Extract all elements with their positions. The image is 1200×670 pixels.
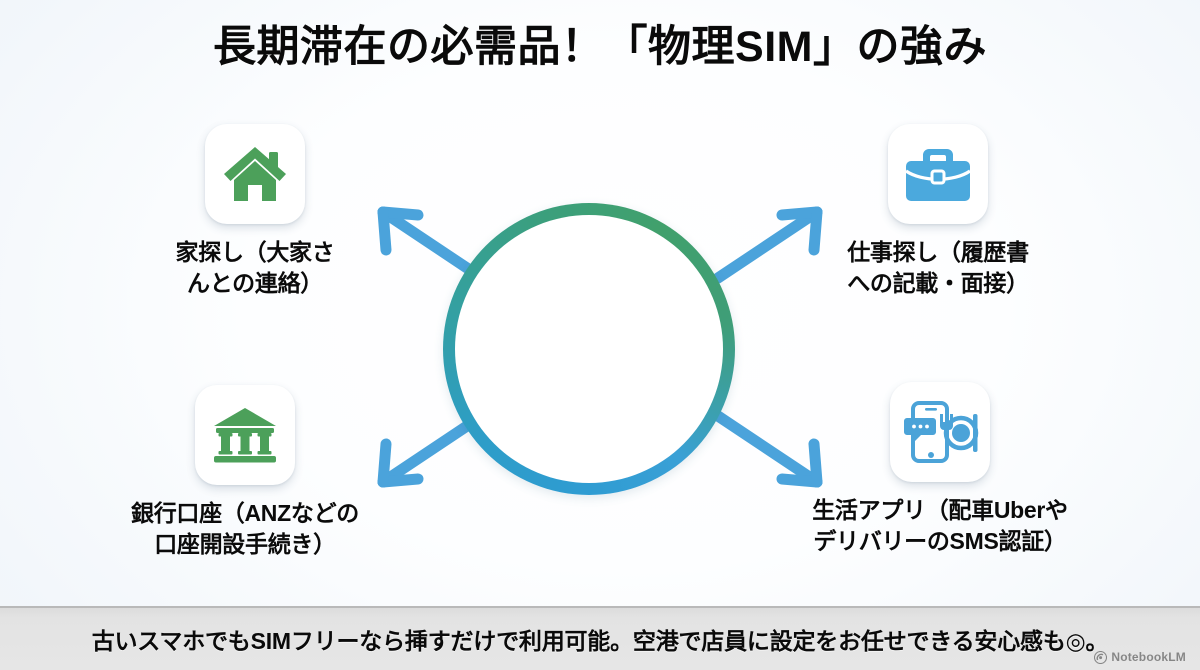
- page-title: 長期滞在の必需品！「物理SIM」の強み: [0, 22, 1200, 73]
- watermark: NotebookLM: [1094, 650, 1186, 664]
- house-icon: [222, 143, 288, 205]
- node-apps[interactable]: 生活アプリ（配車Uberや デリバリーのSMS認証）: [790, 382, 1090, 556]
- node-bank[interactable]: 銀行口座（ANZなどの 口座開設手続き）: [95, 385, 395, 559]
- briefcase-icon-tile[interactable]: [888, 124, 988, 224]
- phone-food-icon: [901, 400, 979, 464]
- bank-icon-tile[interactable]: [195, 385, 295, 485]
- center-highlight-circle: [443, 203, 735, 495]
- infographic-slide: 長期滞在の必需品！「物理SIM」の強み 最大のメリット：: [0, 0, 1200, 670]
- footer-caption: 古いスマホでもSIMフリーなら挿すだけで利用可能。空港で店員に設定をお任せできる…: [92, 622, 1109, 656]
- notebooklm-logo-icon: [1094, 651, 1107, 664]
- briefcase-icon: [904, 145, 972, 203]
- node-job[interactable]: 仕事探し（履歴書 への記載・面接）: [788, 124, 1088, 298]
- node-job-label: 仕事探し（履歴書 への記載・面接）: [847, 237, 1029, 298]
- phone-food-icon-tile[interactable]: [890, 382, 990, 482]
- node-bank-label: 銀行口座（ANZなどの 口座開設手続き）: [131, 498, 359, 559]
- footer-bar: 古いスマホでもSIMフリーなら挿すだけで利用可能。空港で店員に設定をお任せできる…: [0, 606, 1200, 670]
- bank-icon: [212, 406, 278, 464]
- node-house[interactable]: 家探し（大家さ んとの連絡）: [105, 124, 405, 298]
- house-icon-tile[interactable]: [205, 124, 305, 224]
- node-house-label: 家探し（大家さ んとの連絡）: [176, 237, 335, 298]
- node-apps-label: 生活アプリ（配車Uberや デリバリーのSMS認証）: [812, 495, 1068, 556]
- watermark-label: NotebookLM: [1111, 650, 1186, 664]
